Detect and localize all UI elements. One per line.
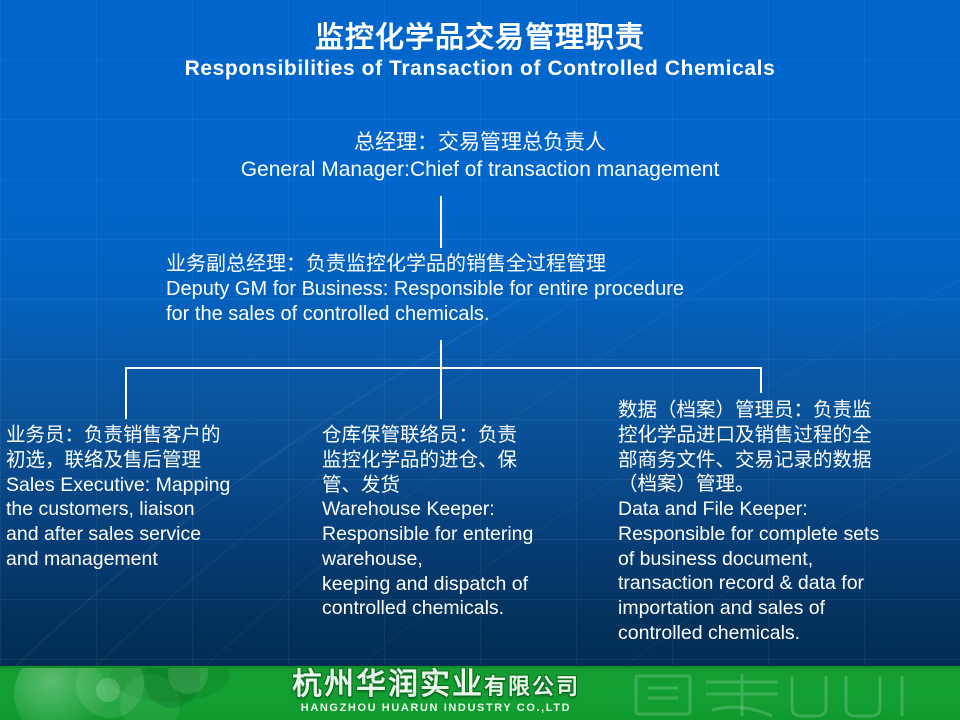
data-keeper-label-en-line1: Data and File Keeper: [618,497,954,522]
company-footer-banner: 杭州华润实业有限公司 HANGZHOU HUARUN INDUSTRY CO.,… [0,666,960,720]
org-node-warehouse-keeper: 仓库保管联络员：负责 监控化学品的进仓、保 管、发货 Warehouse Kee… [322,423,612,621]
sales-label-cn-line1: 业务员：负责销售客户的 [6,423,306,448]
sales-label-en-line4: and management [6,547,306,572]
company-name-en: HANGZHOU HUARUN INDUSTRY CO.,LTD [196,702,676,714]
warehouse-label-en-line4: keeping and dispatch of [322,572,612,597]
warehouse-label-cn-line1: 仓库保管联络员：负责 [322,423,612,448]
org-node-sales-executive: 业务员：负责销售客户的 初选，联络及售后管理 Sales Executive: … [6,423,306,572]
company-logo-text: 杭州华润实业有限公司 HANGZHOU HUARUN INDUSTRY CO.,… [196,670,676,714]
sales-label-cn-line2: 初选，联络及售后管理 [6,448,306,473]
company-name-cn-main: 杭州华润实业 [292,668,484,701]
warehouse-label-en-line5: controlled chemicals. [322,596,612,621]
warehouse-label-en-line3: warehouse, [322,547,612,572]
warehouse-label-en-line2: Responsible for entering [322,522,612,547]
sales-label-en-line2: the customers, liaison [6,497,306,522]
warehouse-label-en-line1: Warehouse Keeper: [322,497,612,522]
data-keeper-label-en-line3: of business document, [618,547,954,572]
warehouse-label-cn-line3: 管、发货 [322,473,612,498]
data-keeper-label-en-line2: Responsible for complete sets [618,522,954,547]
slide-canvas: 监控化学品交易管理职责 Responsibilities of Transact… [0,0,960,720]
data-keeper-label-cn-line4: （档案）管理。 [618,472,954,497]
org-level-3-group: 业务员：负责销售客户的 初选，联络及售后管理 Sales Executive: … [0,0,960,660]
data-keeper-label-en-line6: controlled chemicals. [618,621,954,646]
company-name-cn: 杭州华润实业有限公司 [196,670,676,700]
data-keeper-label-en-line4: transaction record & data for [618,571,954,596]
sales-label-en-line3: and after sales service [6,522,306,547]
data-keeper-label-cn-line1: 数据（档案）管理员：负责监 [618,398,954,423]
sales-label-en-line1: Sales Executive: Mapping [6,473,306,498]
data-keeper-label-en-line5: importation and sales of [618,596,954,621]
data-keeper-label-cn-line3: 部商务文件、交易记录的数据 [618,448,954,473]
org-node-data-file-keeper: 数据（档案）管理员：负责监 控化学品进口及销售过程的全 部商务文件、交易记录的数… [618,398,954,646]
warehouse-label-cn-line2: 监控化学品的进仓、保 [322,448,612,473]
company-name-cn-suffix: 有限公司 [484,674,580,699]
data-keeper-label-cn-line2: 控化学品进口及销售过程的全 [618,423,954,448]
